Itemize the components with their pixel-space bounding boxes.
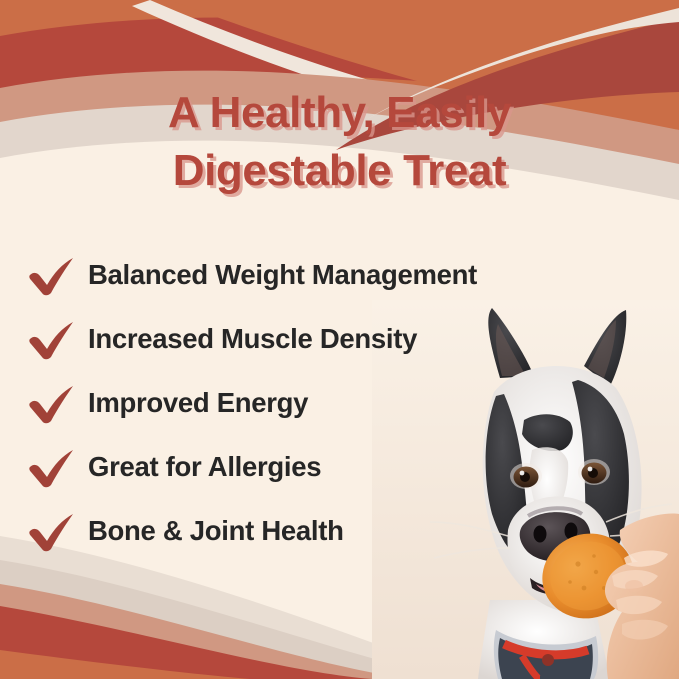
benefit-row-1: Increased Muscle Density <box>24 307 644 371</box>
list-item-label: Great for Allergies <box>88 451 321 483</box>
check-icon <box>24 381 82 425</box>
check-icon <box>24 253 82 297</box>
benefit-list: Balanced Weight Management Increased Mus… <box>24 243 644 563</box>
list-item-label: Bone & Joint Health <box>88 515 344 547</box>
promo-banner: A Healthy, Easily Digestable Treat Balan… <box>0 0 679 679</box>
list-item-label: Improved Energy <box>88 387 308 419</box>
check-icon <box>24 445 82 489</box>
check-icon <box>24 509 82 553</box>
list-item-label: Balanced Weight Management <box>88 259 477 291</box>
list-item-label: Increased Muscle Density <box>88 323 417 355</box>
check-icon <box>24 317 82 361</box>
benefit-row-0: Balanced Weight Management <box>24 243 644 307</box>
benefit-row-3: Great for Allergies <box>24 435 644 499</box>
benefit-row-4: Bone & Joint Health <box>24 499 644 563</box>
benefit-row-2: Improved Energy <box>24 371 644 435</box>
